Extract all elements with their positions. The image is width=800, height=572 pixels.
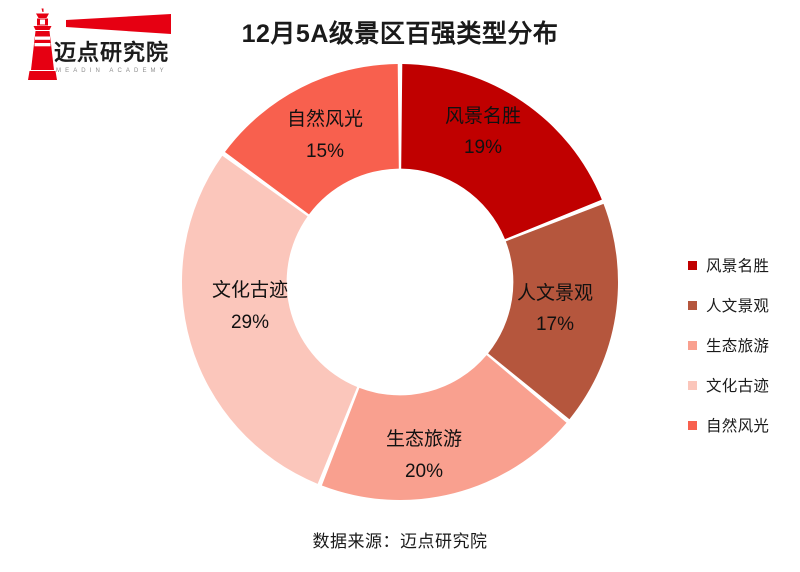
legend-swatch-icon bbox=[688, 381, 697, 390]
legend-label: 文化古迹 bbox=[706, 374, 769, 396]
legend-swatch-icon bbox=[688, 301, 697, 310]
slice-category-label: 自然风光 bbox=[287, 108, 363, 130]
slice-category-label: 文化古迹 bbox=[212, 279, 288, 301]
legend-swatch-icon bbox=[688, 261, 697, 270]
legend-swatch-icon bbox=[688, 341, 697, 350]
legend-swatch-icon bbox=[688, 421, 697, 430]
legend-item[interactable]: 文化古迹 bbox=[688, 365, 798, 405]
chart-legend: 风景名胜人文景观生态旅游文化古迹自然风光 bbox=[688, 245, 798, 445]
legend-item[interactable]: 风景名胜 bbox=[688, 245, 798, 285]
slice-value-label: 15% bbox=[306, 141, 344, 162]
slice-category-label: 风景名胜 bbox=[445, 105, 521, 127]
legend-item[interactable]: 自然风光 bbox=[688, 405, 798, 445]
slice-value-label: 19% bbox=[464, 137, 502, 158]
legend-label: 自然风光 bbox=[706, 414, 769, 436]
legend-item[interactable]: 人文景观 bbox=[688, 285, 798, 325]
legend-item[interactable]: 生态旅游 bbox=[688, 325, 798, 365]
slice-category-label: 生态旅游 bbox=[386, 428, 462, 450]
slice-value-label: 17% bbox=[536, 314, 574, 335]
donut-chart-svg: 风景名胜19%人文景观17%生态旅游20%文化古迹29%自然风光15% bbox=[180, 62, 620, 502]
legend-label: 人文景观 bbox=[706, 294, 769, 316]
slice-value-label: 29% bbox=[231, 312, 269, 333]
logo-subtitle: MEADIN ACADEMY bbox=[56, 68, 168, 74]
slice-category-label: 人文景观 bbox=[517, 282, 593, 304]
donut-chart: 风景名胜19%人文景观17%生态旅游20%文化古迹29%自然风光15% bbox=[180, 62, 620, 502]
donut-slice[interactable] bbox=[182, 156, 357, 484]
chart-title: 12月5A级景区百强类型分布 bbox=[0, 14, 800, 50]
legend-label: 生态旅游 bbox=[706, 334, 769, 356]
slice-value-label: 20% bbox=[405, 461, 443, 482]
data-source-note: 数据来源：迈点研究院 bbox=[0, 527, 800, 552]
legend-label: 风景名胜 bbox=[706, 254, 769, 276]
